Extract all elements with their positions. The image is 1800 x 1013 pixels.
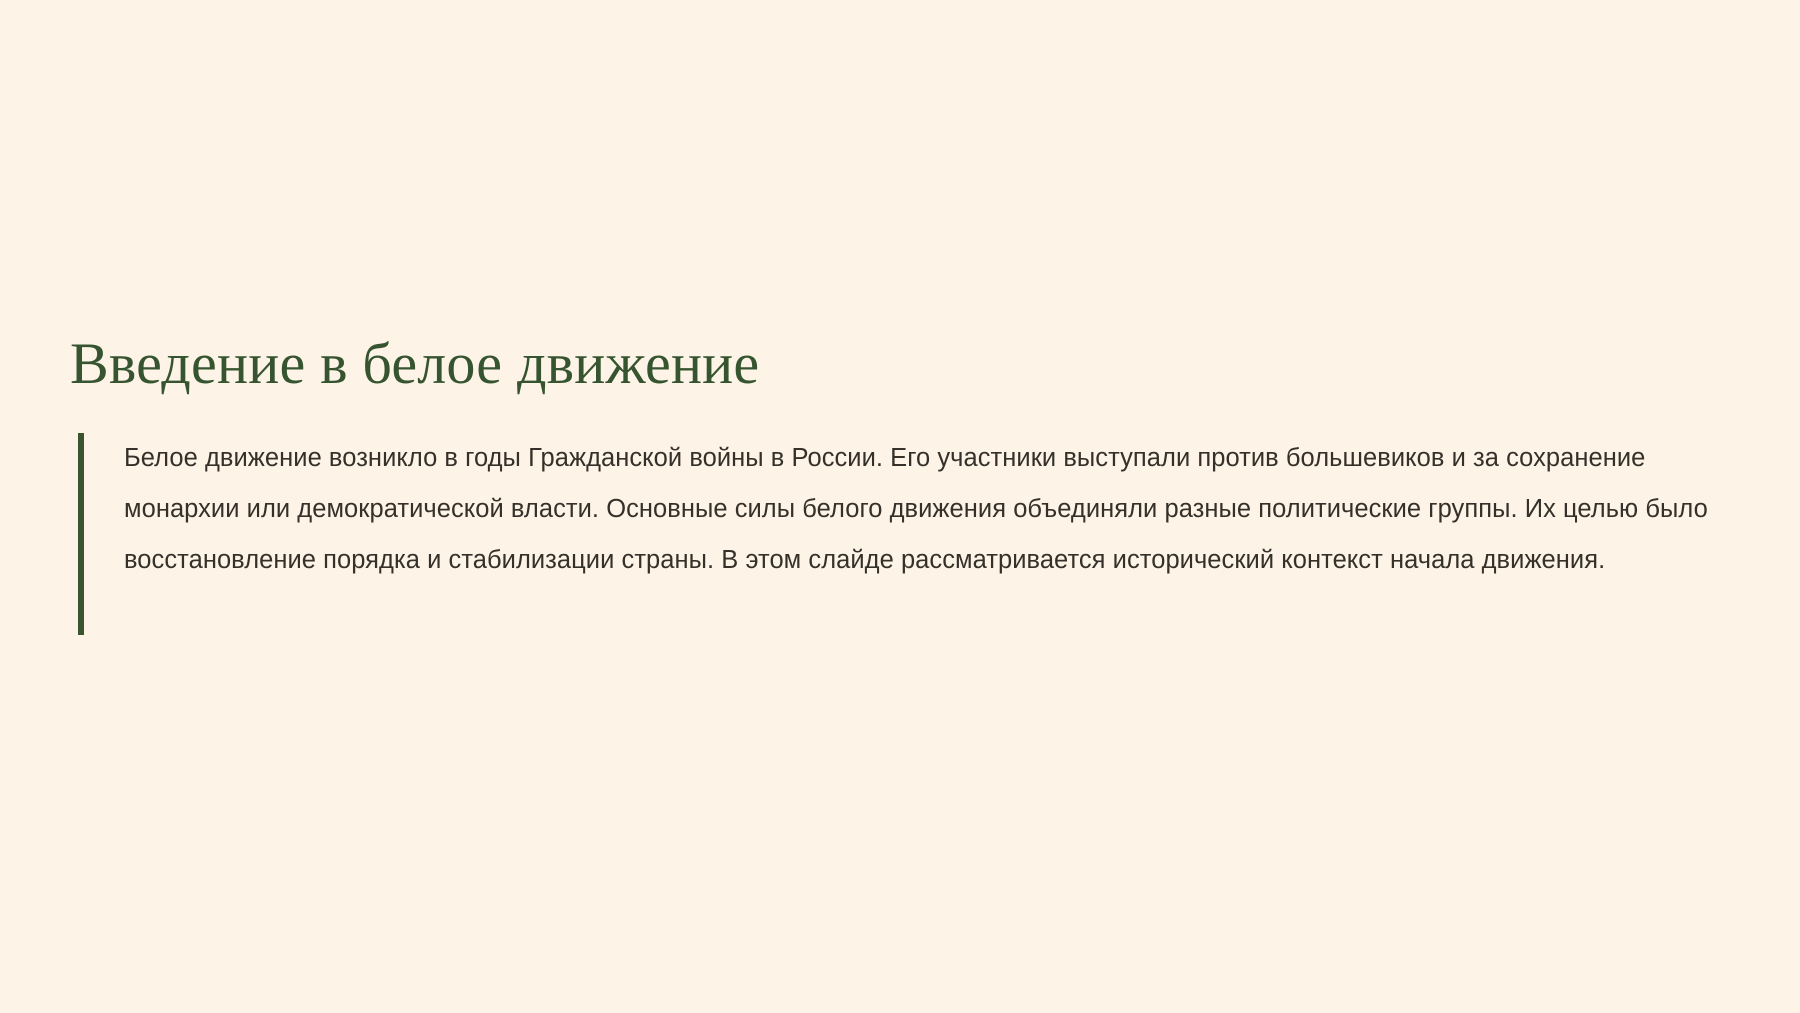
body-block: Белое движение возникло в годы Гражданск…: [78, 433, 1730, 586]
accent-bar: [78, 433, 84, 635]
slide-content: Введение в белое движение Белое движение…: [70, 330, 1730, 586]
body-paragraph: Белое движение возникло в годы Гражданск…: [124, 433, 1714, 586]
slide-canvas: Введение в белое движение Белое движение…: [0, 0, 1800, 1013]
page-title: Введение в белое движение: [70, 330, 1730, 397]
